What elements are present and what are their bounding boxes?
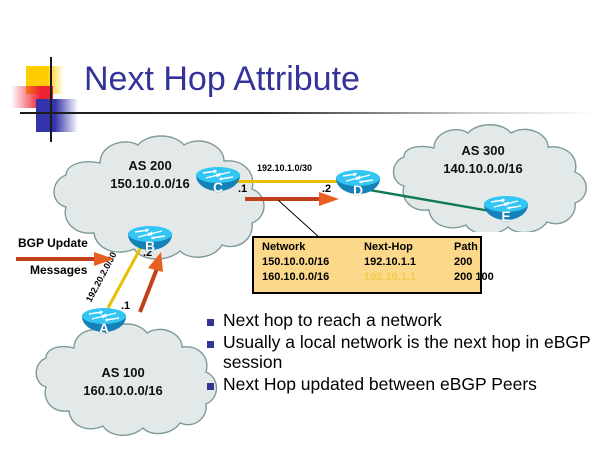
list-item: Next Hop updated between eBGP Peers: [207, 374, 597, 395]
title-underline-rule: [20, 112, 595, 114]
arrow-update-a-to-b: [134, 252, 166, 319]
cloud-as-300-as: AS 300: [408, 142, 558, 160]
table-header-network: Network: [262, 241, 364, 256]
bullet-square-icon: [207, 383, 214, 390]
router-a-label: A: [82, 320, 126, 336]
list-item: Usually a local network is the next hop …: [207, 332, 597, 373]
router-c[interactable]: C: [196, 167, 240, 197]
bullet-list: Next hop to reach a network Usually a lo…: [207, 310, 597, 396]
router-d[interactable]: D: [336, 170, 380, 200]
bullet-text: Usually a local network is the next hop …: [223, 332, 597, 373]
bgp-update-line2: Messages: [30, 263, 87, 277]
bgp-route-table: Network Next-Hop Path 150.10.0.0/16 192.…: [252, 236, 482, 294]
router-b-label: B: [128, 238, 172, 254]
router-b[interactable]: B: [128, 226, 172, 256]
bullet-text: Next hop to reach a network: [223, 310, 442, 331]
decoration-blue-square: [36, 99, 78, 132]
cloud-as-300-label: AS 300 140.10.0.0/16: [408, 142, 558, 177]
table-header-row: Network Next-Hop Path: [262, 241, 504, 256]
table-header-next-hop: Next-Hop: [364, 241, 454, 256]
router-d-label: D: [336, 182, 380, 198]
cell-network: 160.10.0.0/16: [262, 271, 364, 286]
router-a[interactable]: A: [82, 308, 126, 338]
cell-path: 200: [454, 256, 504, 271]
table-row: 150.10.0.0/16 192.10.1.1 200: [262, 256, 504, 271]
cloud-as-100-prefix: 160.10.0.0/16: [48, 382, 198, 400]
cell-path: 200 100: [454, 271, 504, 286]
cell-next-hop-highlighted: 192.10.1.1: [364, 271, 454, 286]
page-title: Next Hop Attribute: [84, 60, 360, 99]
cell-network: 150.10.0.0/16: [262, 256, 364, 271]
link-label-c-d: 192.10.1.0/30: [257, 163, 312, 173]
bullet-square-icon: [207, 319, 214, 326]
table-header-path: Path: [454, 241, 504, 256]
bullet-square-icon: [207, 341, 214, 348]
slide-canvas: Next Hop Attribute AS 200 150.10.0.0/16 …: [0, 0, 600, 450]
bgp-update-line1: BGP Update: [18, 236, 88, 250]
router-e[interactable]: E: [484, 196, 528, 226]
cloud-as-100: AS 100 160.10.0.0/16: [28, 320, 218, 440]
bullet-text: Next Hop updated between eBGP Peers: [223, 374, 537, 395]
decoration-vertical-rule: [50, 57, 52, 142]
router-e-label: E: [484, 208, 528, 224]
router-c-label: C: [196, 179, 240, 195]
table-row: 160.10.0.0/16 192.10.1.1 200 100: [262, 271, 504, 286]
cell-next-hop: 192.10.1.1: [364, 256, 454, 271]
cloud-as-300-prefix: 140.10.0.0/16: [408, 160, 558, 178]
cloud-as-100-label: AS 100 160.10.0.0/16: [48, 364, 198, 399]
cloud-as-100-as: AS 100: [48, 364, 198, 382]
list-item: Next hop to reach a network: [207, 310, 597, 331]
